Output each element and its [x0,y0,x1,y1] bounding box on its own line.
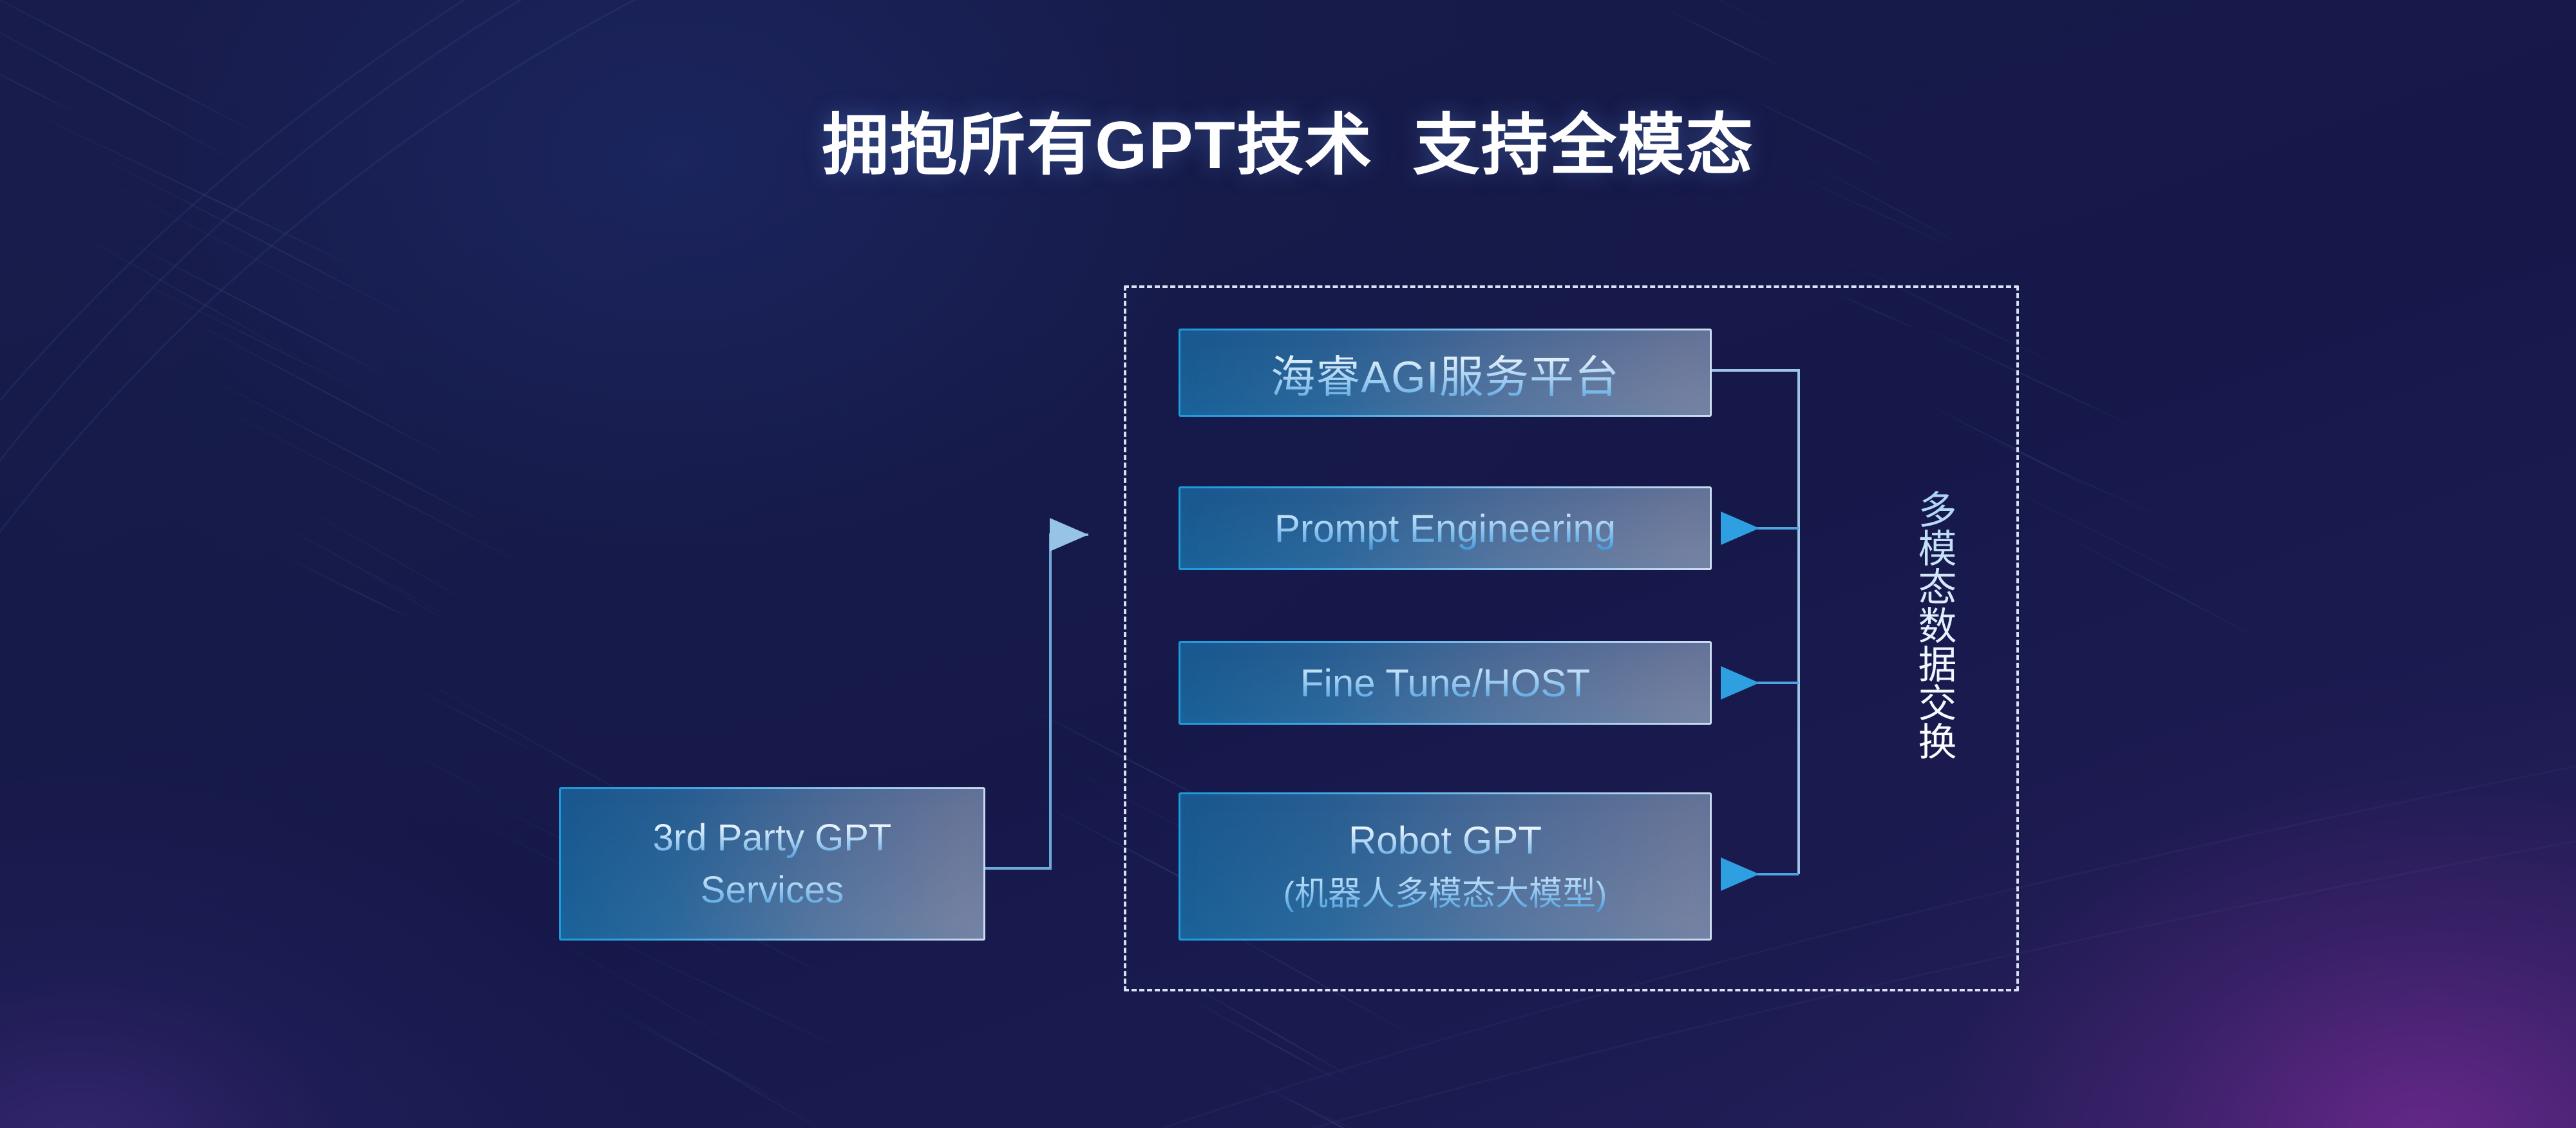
connector-third-to-group [985,535,1088,868]
vertical-data-exchange-label: 多模态数据交换 [1898,490,1956,760]
box-fine-label: Fine Tune/HOST [1300,661,1590,705]
page-title: 拥抱所有GPT技术 支持全模态 [0,108,2576,183]
box-robot-sublabel: (机器人多模态大模型) [1283,866,1607,915]
box-third-party-gpt[interactable]: 3rd Party GPT Services [559,787,985,941]
box-agi-platform[interactable]: 海睿AGI服务平台 [1179,329,1712,417]
slide-canvas: 拥抱所有GPT技术 支持全模态 [0,0,2576,1128]
box-prompt-label: Prompt Engineering [1274,506,1616,551]
box-third-label: 3rd Party GPT [653,816,892,859]
box-prompt-engineering[interactable]: Prompt Engineering [1179,486,1712,570]
box-fine-tune-host[interactable]: Fine Tune/HOST [1179,641,1712,725]
box-robot-gpt[interactable]: Robot GPT (机器人多模态大模型) [1179,792,1712,941]
box-third-sublabel: Services [701,868,844,912]
box-robot-label: Robot GPT [1349,818,1542,863]
box-agi-label: 海睿AGI服务平台 [1271,341,1620,405]
